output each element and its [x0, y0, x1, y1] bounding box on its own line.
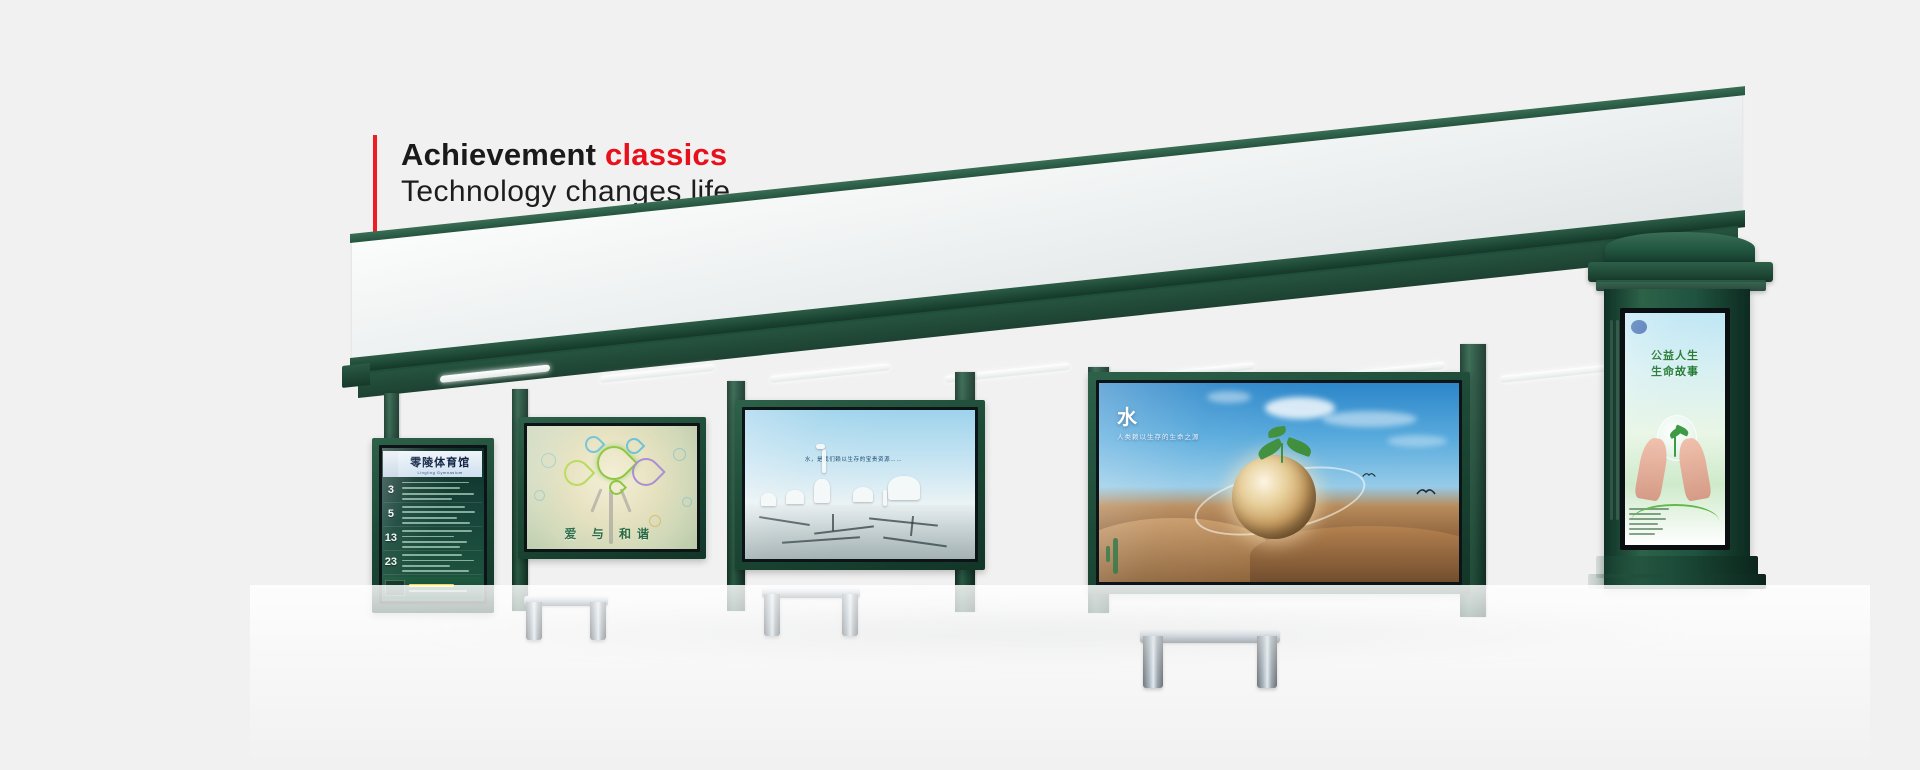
tower-roof-cap: [1605, 232, 1755, 266]
tower-plinth: [1588, 574, 1766, 589]
route-number: 5: [383, 503, 399, 526]
tower-eave: [1588, 262, 1773, 282]
route-number: 3: [383, 479, 399, 502]
ad-green-headline: 公益人生 生命故事: [1629, 348, 1721, 381]
cactus: [1113, 538, 1118, 574]
route-stops: [399, 551, 482, 574]
route-number: 23: [383, 551, 399, 574]
scene-stage: Achievement classics Technology changes …: [0, 0, 1920, 770]
ad-water-animals: 水，是我们赖以生存的宝贵资源……: [745, 410, 975, 559]
board-screen: 公益人生 生命故事: [1625, 313, 1725, 545]
ad-love-headline: 爱 与 和谐: [564, 525, 655, 542]
earth-globe: [1232, 455, 1316, 539]
board-screen: 水 人类赖以生存的生命之源: [1099, 383, 1459, 582]
ad-water-subtitle: 人类赖以生存的生命之源: [1117, 431, 1200, 441]
board-screen: 爱 与 和谐: [527, 426, 697, 549]
canopy-light-strip: [770, 363, 890, 383]
ad-animals-caption: 水，是我们赖以生存的宝贵资源……: [805, 455, 903, 463]
board-love-tree[interactable]: 爱 与 和谐: [518, 417, 706, 559]
schedule-row: 5: [383, 503, 482, 527]
route-number: 13: [383, 527, 399, 550]
schedule-row: 23: [383, 551, 482, 575]
board-screen: 零陵体育馆 Lingling Gymnasium 3: [382, 448, 484, 601]
animal-elephant: [888, 476, 920, 500]
organization-logo: [1631, 320, 1647, 334]
schedule-footer-tag: [385, 580, 405, 596]
ad-water-earth: 水 人类赖以生存的生命之源: [1099, 383, 1459, 582]
schedule-corner-plate: [383, 451, 398, 477]
animal-giraffe: [814, 479, 830, 503]
schedule-title-cn: 零陵体育馆: [410, 454, 470, 470]
route-stops: [399, 527, 482, 550]
ad-green-ngo: 公益人生 生命故事: [1625, 313, 1725, 545]
bird-icon: [1362, 471, 1376, 478]
cactus-arm: [1106, 546, 1110, 562]
bird-icon: [1416, 486, 1436, 496]
ad-green-ribbon: [1631, 504, 1719, 538]
canopy-left-cap: [342, 363, 370, 388]
schedule-row: 13: [383, 527, 482, 551]
animal-deer: [761, 493, 776, 506]
tower-vent: [1616, 320, 1619, 520]
ground-shadow: [300, 600, 1800, 680]
schedule-row: 3: [383, 479, 482, 503]
schedule-panel: 零陵体育馆 Lingling Gymnasium 3: [382, 448, 484, 601]
animal-elephant-trunk: [883, 490, 887, 506]
schedule-title-en: Lingling Gymnasium: [418, 470, 463, 475]
hand-left: [1634, 436, 1670, 502]
hand-right: [1676, 436, 1712, 502]
canopy-roof-panel: [352, 93, 1742, 370]
route-stops: [399, 503, 482, 526]
animal-giraffe-neck: [822, 449, 826, 473]
board-water-animals[interactable]: 水，是我们赖以生存的宝贵资源……: [735, 400, 985, 570]
board-water-earth[interactable]: 水 人类赖以生存的生命之源: [1088, 372, 1470, 594]
ad-water-title: 水: [1117, 401, 1137, 430]
cracked-ground: [745, 505, 975, 559]
schedule-route-rows: 3 5: [383, 479, 482, 575]
animal-giraffe-head: [816, 444, 825, 449]
schedule-footer-message: [405, 584, 482, 592]
animal-camel: [853, 487, 873, 502]
board-green-ngo[interactable]: 公益人生 生命故事: [1620, 308, 1730, 550]
schedule-footer: [383, 577, 482, 600]
schedule-title-plate: 零陵体育馆 Lingling Gymnasium: [398, 451, 482, 477]
tower-vent: [1610, 320, 1613, 520]
board-schedule[interactable]: 零陵体育馆 Lingling Gymnasium 3: [372, 438, 494, 613]
board-screen: 水，是我们赖以生存的宝贵资源……: [745, 410, 975, 559]
animal-horse: [786, 490, 804, 504]
route-stops: [399, 479, 482, 502]
ad-love-tree: 爱 与 和谐: [527, 426, 697, 549]
